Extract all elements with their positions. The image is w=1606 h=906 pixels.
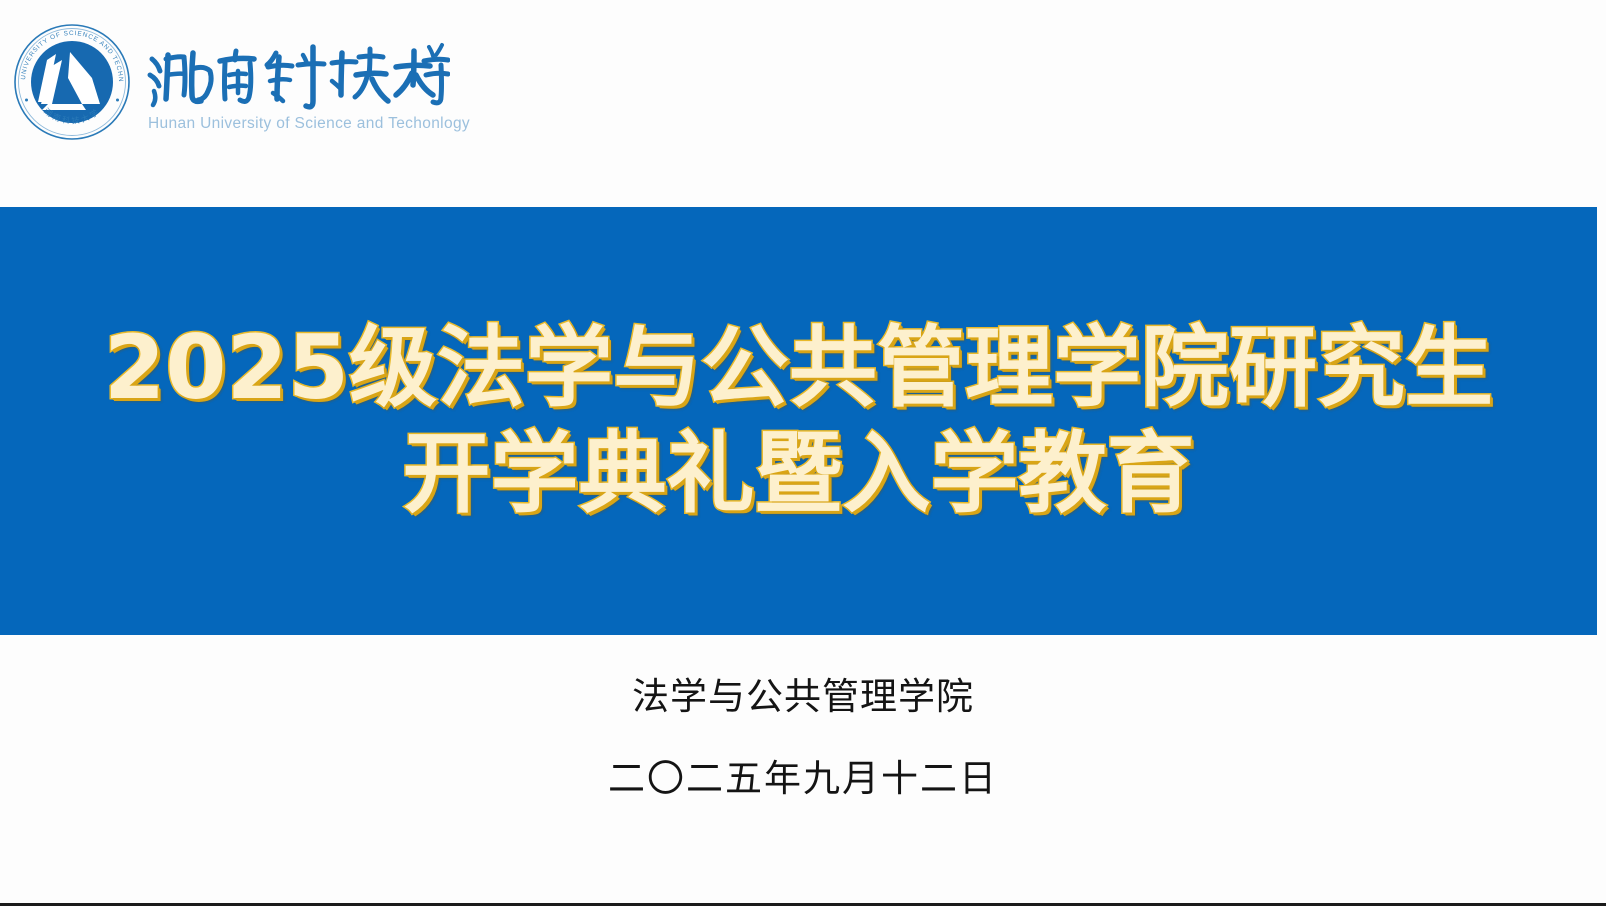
title-line-2: 开学典礼暨入学教育 [402, 422, 1194, 526]
slide-footer: 法学与公共管理学院 二〇二五年九月十二日 [0, 678, 1606, 797]
university-crest-icon: HUNAN UNIVERSITY OF SCIENCE AND TECHNOLO… [12, 22, 132, 142]
university-logo-lockup: HUNAN UNIVERSITY OF SCIENCE AND TECHNOLO… [12, 18, 470, 146]
logo-english-name: Hunan University of Science and Techonlo… [146, 115, 470, 133]
footer-organization: 法学与公共管理学院 [0, 678, 1606, 715]
footer-date: 二〇二五年九月十二日 [0, 760, 1606, 797]
logo-chinese-name-icon [146, 35, 450, 117]
title-slide: HUNAN UNIVERSITY OF SCIENCE AND TECHNOLO… [0, 0, 1606, 906]
title-banner: 2025级法学与公共管理学院研究生 开学典礼暨入学教育 [0, 207, 1597, 635]
title-line-1: 2025级法学与公共管理学院研究生 [104, 316, 1493, 420]
logo-wordmark: Hunan University of Science and Techonlo… [146, 31, 470, 133]
